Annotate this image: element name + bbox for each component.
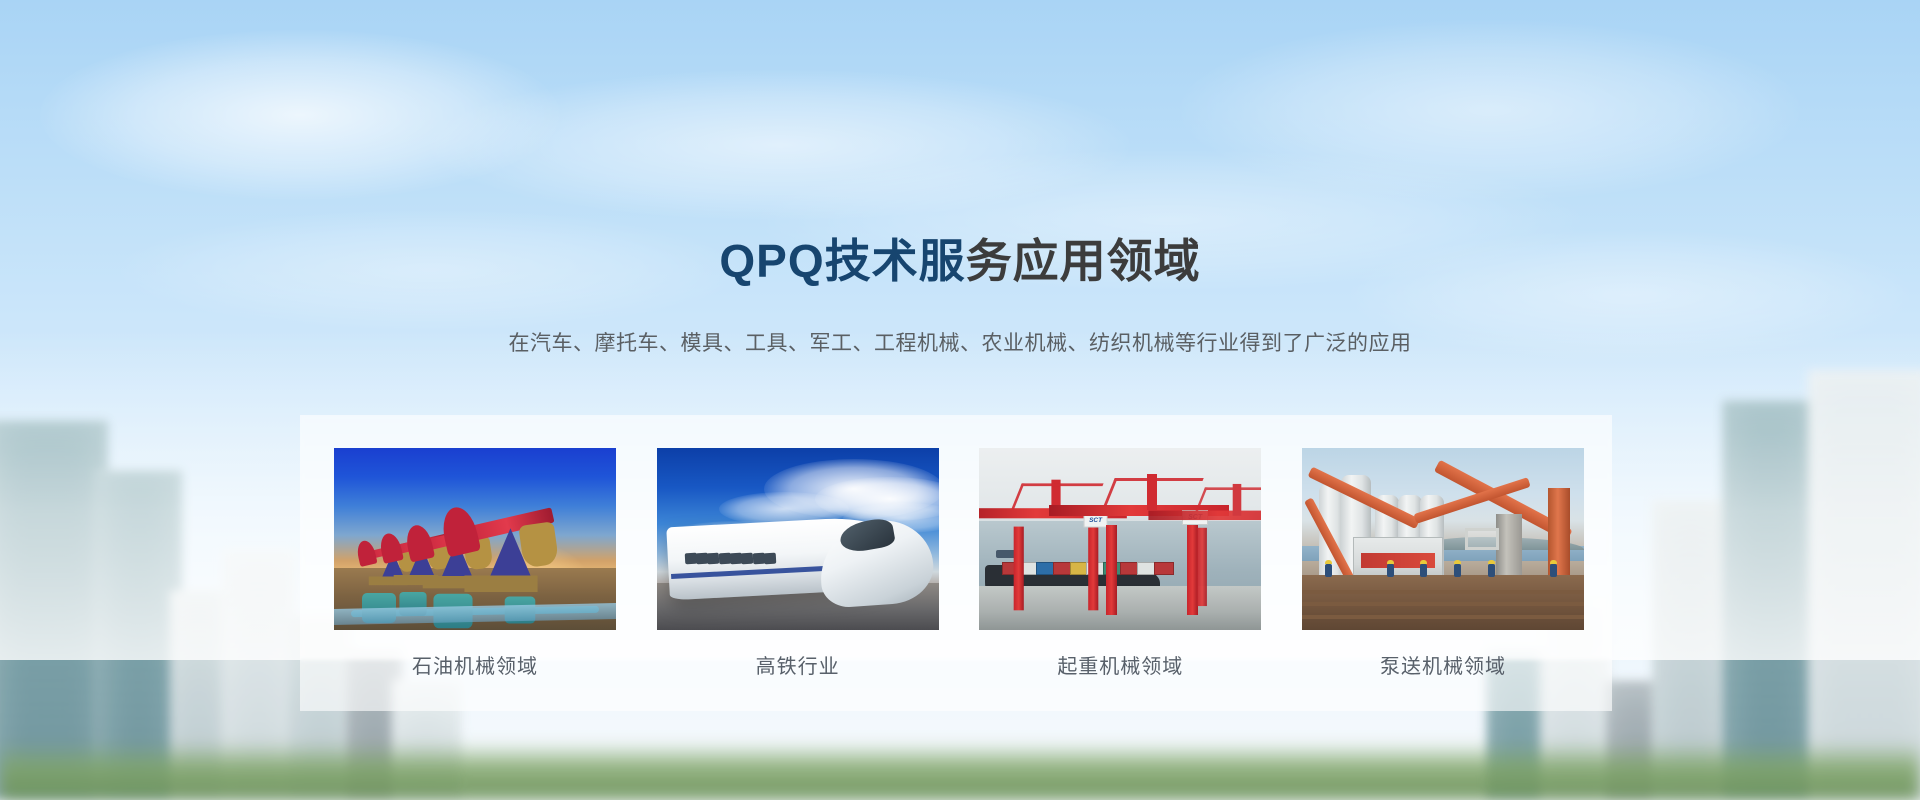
card-label: 泵送机械领域 (1302, 650, 1584, 679)
card-label: 石油机械领域 (334, 650, 616, 679)
cloud-decor (40, 30, 560, 200)
card-thumbnail-high-speed-rail (657, 448, 939, 630)
page-title-accent: QPQ技术服 (719, 235, 965, 287)
card-thumbnail-oil-machinery (334, 448, 616, 630)
hero-banner: QPQ技术服务应用领域 在汽车、摩托车、模具、工具、军工、工程机械、农业机械、纺… (0, 0, 1920, 800)
page-title-rest: 务应用领域 (966, 235, 1201, 287)
cloud-decor (430, 70, 1130, 220)
application-card-list: 石油机械领域 高铁行业 (334, 448, 1584, 679)
page-title: QPQ技术服务应用领域 (0, 236, 1920, 287)
application-card[interactable]: 石油机械领域 (334, 448, 616, 679)
application-card[interactable]: 泵送机械领域 (1302, 448, 1584, 679)
card-label: 高铁行业 (657, 650, 939, 679)
card-label: 起重机械领域 (979, 650, 1261, 679)
page-subtitle: 在汽车、摩托车、模具、工具、军工、工程机械、农业机械、纺织机械等行业得到了广泛的… (0, 327, 1920, 357)
card-thumbnail-lifting-machinery: SCT SCT SCT (979, 448, 1261, 630)
application-card[interactable]: SCT SCT SCT 起重机械领域 (979, 448, 1261, 679)
cloud-decor (1180, 20, 1800, 200)
application-card[interactable]: 高铁行业 (657, 448, 939, 679)
card-thumbnail-pumping-machinery (1302, 448, 1584, 630)
